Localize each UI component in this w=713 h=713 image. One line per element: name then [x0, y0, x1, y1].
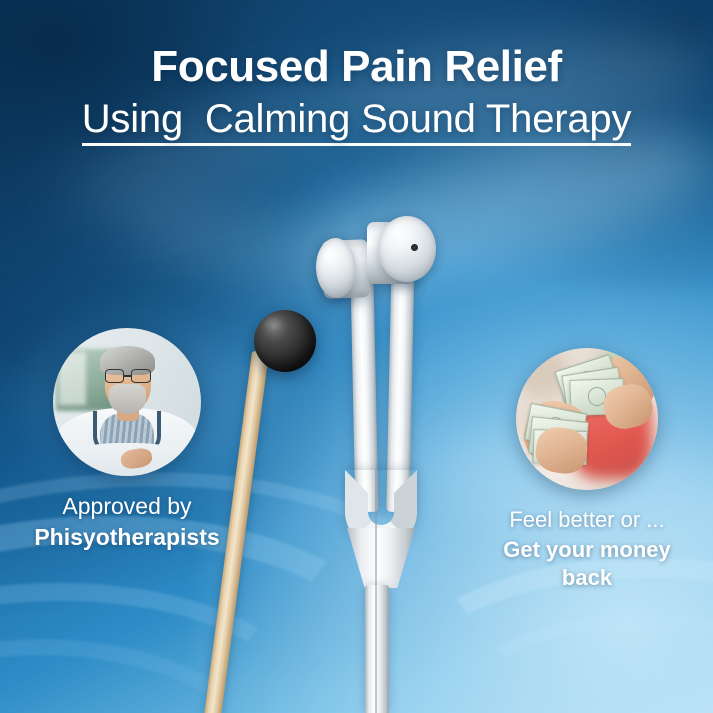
- doctor-beard: [109, 384, 146, 414]
- feature-money-back-line2: Get your money back: [478, 536, 696, 592]
- fork-weight-right-face: [378, 216, 436, 282]
- poster-canvas: Focused Pain Relief Using Calming Sound …: [0, 0, 713, 713]
- fork-stem: [365, 585, 389, 713]
- doctor-photo-window-light: [59, 352, 86, 405]
- headline-sub: Using Calming Sound Therapy: [82, 97, 632, 146]
- feature-money-back-line1: Feel better or ...: [478, 506, 696, 534]
- feature-money-back: Feel better or ... Get your money back: [478, 348, 696, 592]
- doctor-photo: [53, 328, 201, 476]
- headline-main: Focused Pain Relief: [0, 44, 713, 90]
- feature-money-back-caption: Feel better or ... Get your money back: [478, 506, 696, 592]
- mallet-head: [254, 310, 316, 372]
- fork-seam-line: [375, 470, 377, 713]
- eyeglasses-icon: [105, 369, 151, 382]
- feature-approved-line1: Approved by: [18, 492, 236, 521]
- feature-approved: Approved by Phisyotherapists: [18, 328, 236, 553]
- feature-approved-caption: Approved by Phisyotherapists: [18, 492, 236, 553]
- headline-block: Focused Pain Relief Using Calming Sound …: [0, 44, 713, 146]
- feature-approved-line2: Phisyotherapists: [18, 523, 236, 552]
- money-exchange-photo: [516, 348, 658, 490]
